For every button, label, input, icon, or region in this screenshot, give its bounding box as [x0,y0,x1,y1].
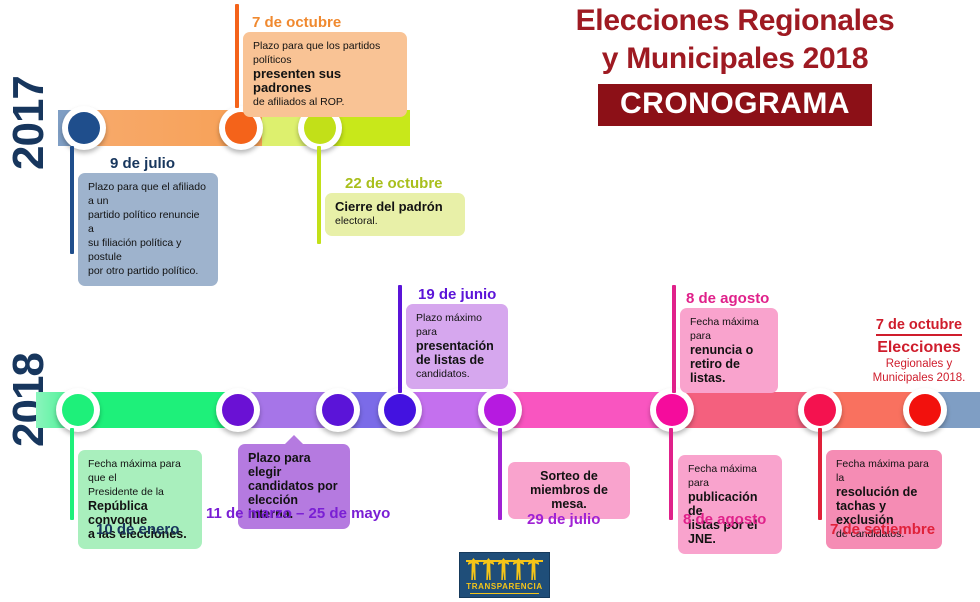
node-11-marzo-dot [222,394,254,426]
callout-line: partido político renuncie a [88,208,208,236]
callout-8-agosto-renuncia: Fecha máxima para renuncia o retiro de l… [680,308,778,393]
date-7-octubre-2017: 7 de octubre [252,14,341,31]
date-29-julio: 29 de julio [527,511,600,528]
callout-line: candidatos. [416,367,498,381]
callout-line: de afiliados al ROP. [253,95,397,109]
elecciones-date: 7 de octubre [876,317,962,336]
elecciones-sub-1: Regionales y [858,357,980,371]
elecciones-sub-2: Municipales 2018. [858,371,980,385]
callout-line: su filiación política y postule [88,236,208,264]
callout-line: Fecha máxima para la [836,457,932,485]
node-8-agosto-dot [804,394,836,426]
callout-9-julio: Plazo para que el afiliado a un partido … [78,173,218,286]
node-10-enero-dot [62,394,94,426]
person-icon [528,558,539,580]
elecciones-note: 7 de octubre Elecciones Regionales y Mun… [858,316,980,385]
node-25-mayo-dot [322,394,354,426]
callout-line: Fecha máxima para [690,315,768,343]
node-10-enero[interactable] [56,388,100,432]
callout-7-octubre-2017: Plazo para que los partidos políticos pr… [243,32,407,117]
callout-line: renuncia o [690,343,768,357]
node-19-junio[interactable] [378,388,422,432]
callout-line: resolución de [836,485,932,499]
stem-29-julio [498,428,502,520]
callout-line: presenten sus padrones [253,67,397,95]
logo-text: TRANSPARENCIA [460,582,549,591]
node-11-marzo[interactable] [216,388,260,432]
node-9-julio[interactable] [62,106,106,150]
node-8-agosto[interactable] [798,388,842,432]
stem-8-agosto-renuncia [672,285,676,393]
stem-19-junio [398,285,402,393]
callout-line: retiro de listas. [690,357,768,385]
callout-line: de listas de [416,353,498,367]
callout-line: Plazo máximo para [416,311,498,339]
node-29-julio[interactable] [650,388,694,432]
node-mid-purple[interactable] [478,388,522,432]
stem-22-octubre [317,146,321,244]
node-7-octubre-elecciones-dot [909,394,941,426]
stem-7-setiembre [818,428,822,520]
title-line-1: Elecciones Regionales [492,2,978,40]
callout-line: electoral. [335,214,455,228]
date-22-octubre: 22 de octubre [345,175,443,192]
date-19-junio: 19 de junio [418,286,496,303]
person-icon [483,558,494,580]
callout-line: Cierre del padrón [335,200,455,214]
title-line-2: y Municipales 2018 [492,40,978,78]
date-8-agosto-renuncia: 8 de agosto [686,290,769,307]
date-8-agosto-publicacion: 8 de agosto [683,511,766,528]
node-29-julio-dot [656,394,688,426]
callout-line: Plazo para que los partidos políticos [253,39,397,67]
callout-line: candidatos por [248,479,340,493]
person-icon [498,558,509,580]
person-icon [513,558,524,580]
date-11-marzo-25-mayo: 11 de marzo – 25 de mayo [206,505,390,522]
node-mid-purple-dot [484,394,516,426]
infographic-canvas: Elecciones Regionales y Municipales 2018… [0,0,980,602]
callout-line: por otro partido político. [88,264,208,278]
callout-line: Plazo para elegir [248,451,340,479]
transparencia-logo: TRANSPARENCIA [459,552,550,598]
stem-8-agosto-publicacion [669,428,673,520]
stem-7-octubre-2017 [235,4,239,108]
node-25-mayo[interactable] [316,388,360,432]
callout-line: Fecha máxima para que el [88,457,192,485]
page-title: Elecciones Regionales y Municipales 2018… [492,2,978,126]
stem-9-julio [70,146,74,254]
callout-line: presentación [416,339,498,353]
callout-line: Presidente de la [88,485,192,499]
callout-22-octubre: Cierre del padrón electoral. [325,193,465,236]
year-label-2017: 2017 [4,76,54,170]
callout-8-agosto-publicacion: Fecha máxima para publicación de listas … [678,455,782,554]
node-19-junio-dot [384,394,416,426]
person-icon [468,558,479,580]
callout-line: Sorteo de [518,469,620,483]
date-7-setiembre: 7 de setiembre [830,521,935,538]
bar-seg-2018-magenta [498,392,674,428]
callout-line: miembros de mesa. [518,483,620,511]
callout-19-junio: Plazo máximo para presentación de listas… [406,304,508,389]
logo-figures-icon [468,558,541,580]
date-9-julio: 9 de julio [110,155,175,172]
stem-10-enero [70,428,74,520]
node-7-octubre-elecciones[interactable] [903,388,947,432]
callout-line: Plazo para que el afiliado a un [88,180,208,208]
logo-rule [470,593,539,594]
date-10-enero: 10 de enero [96,521,179,538]
node-9-julio-dot [68,112,100,144]
elecciones-main: Elecciones [858,339,980,357]
cronograma-badge: CRONOGRAMA [598,84,872,126]
callout-line: Fecha máxima para [688,462,772,490]
